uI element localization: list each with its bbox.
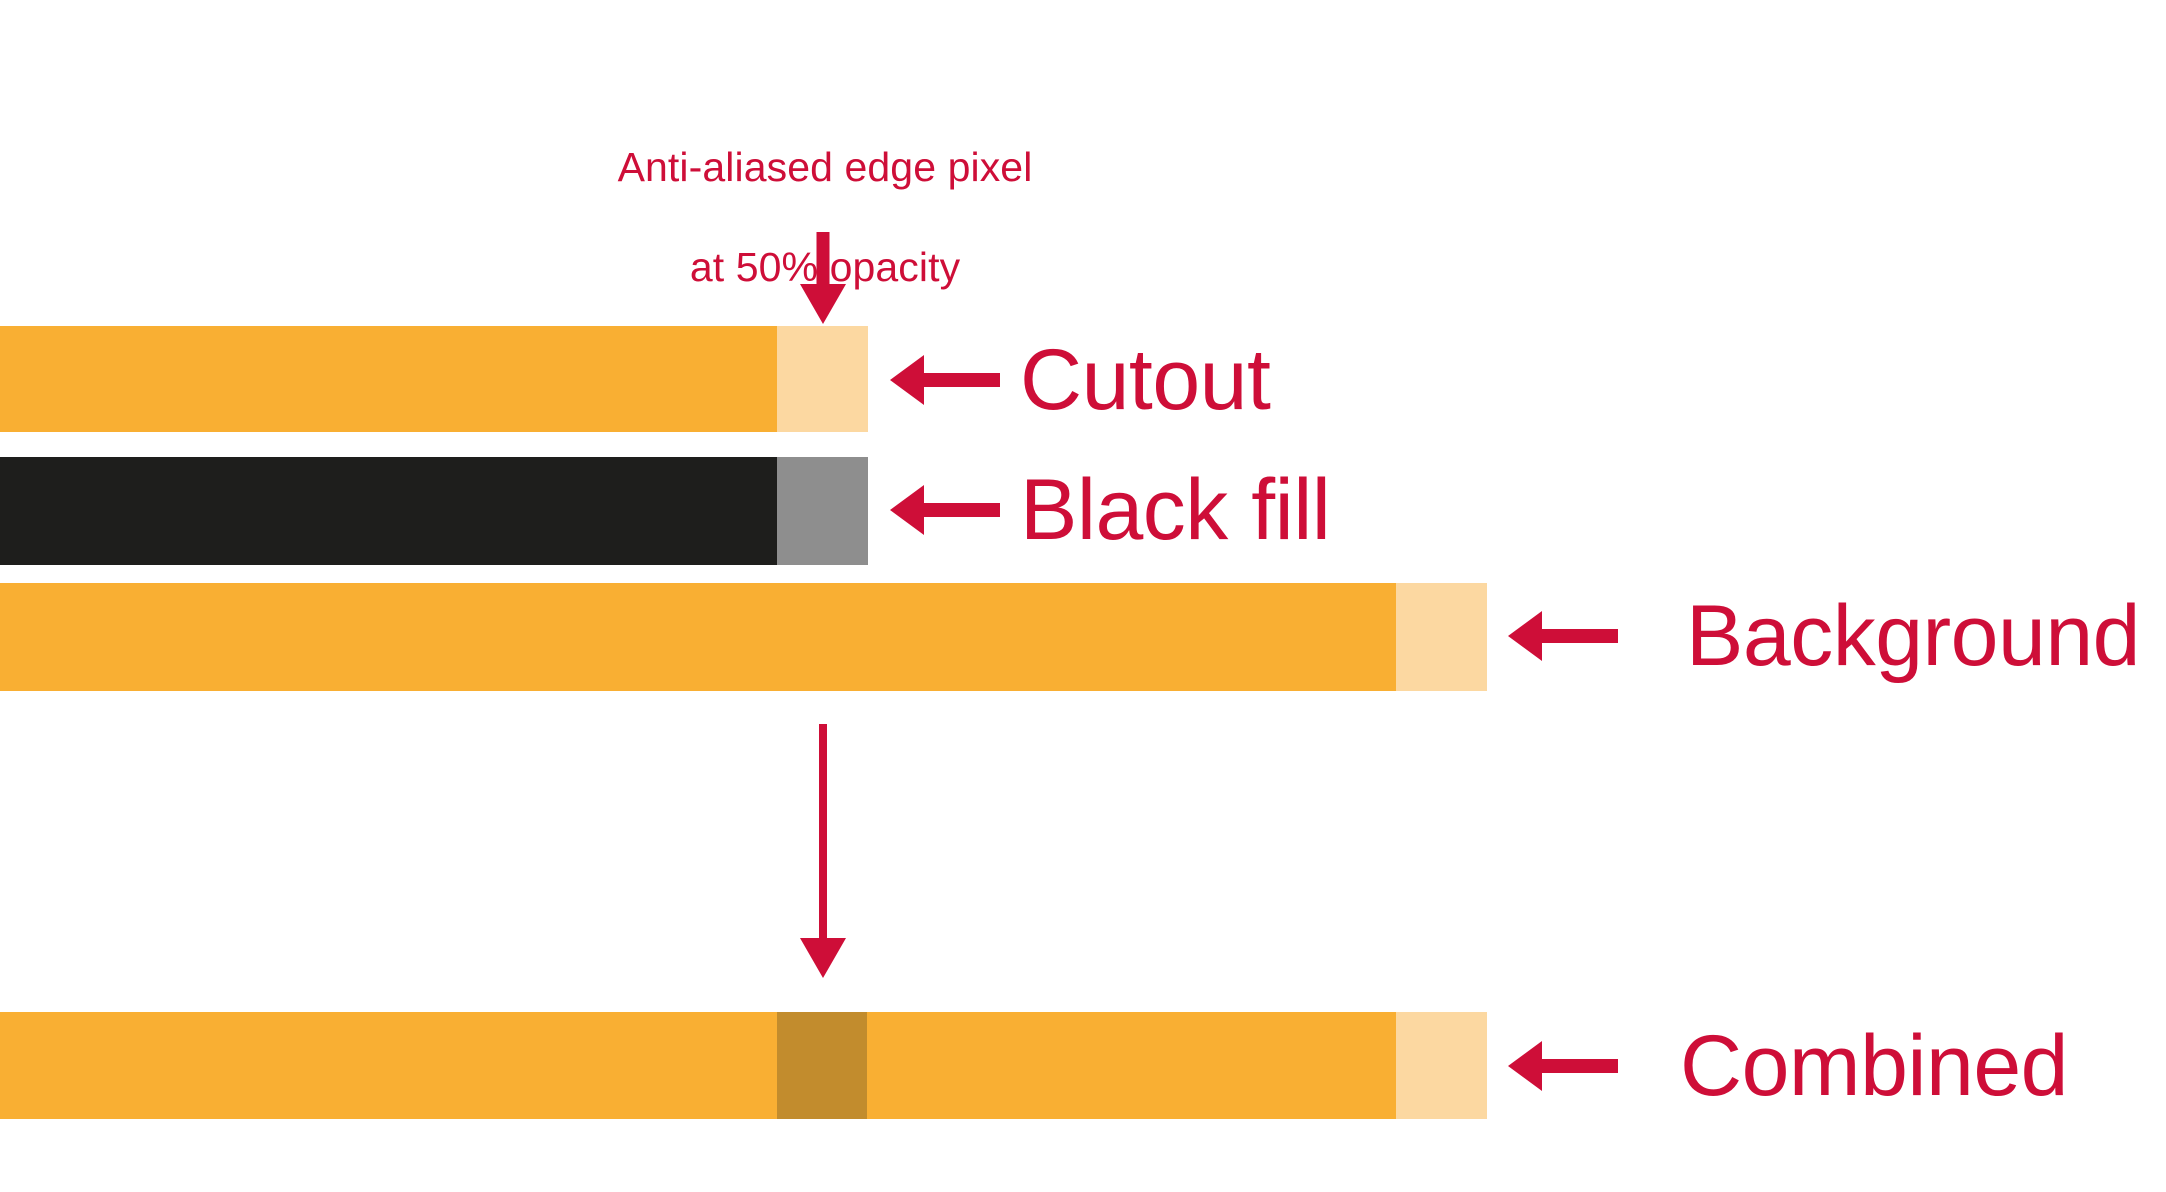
bar-cutout-segment-solid (0, 326, 777, 432)
bar-cutout (0, 326, 868, 432)
bar-combined-segment-solid-left (0, 1012, 777, 1119)
arrow-left-icon (890, 350, 1000, 410)
arrow-down-icon (800, 724, 846, 978)
arrow-left-icon (1508, 1036, 1618, 1096)
bar-combined-segment-edge-pixel (1396, 1012, 1487, 1119)
bar-combined (0, 1012, 1487, 1119)
label-background: Background (1508, 588, 2140, 684)
arrow-down-icon (800, 232, 846, 324)
bar-background-segment-edge-pixel (1396, 583, 1487, 691)
label-black-fill-text: Black fill (1020, 467, 1330, 553)
bar-background (0, 583, 1487, 691)
bar-combined-segment-blended-edge-pixel (777, 1012, 867, 1119)
bar-background-segment-solid (0, 583, 1396, 691)
label-black-fill: Black fill (890, 462, 1330, 558)
bar-black-fill (0, 457, 868, 565)
bar-cutout-segment-edge-pixel (777, 326, 868, 432)
diagram-canvas: Anti-aliased edge pixel at 50% opacity C… (0, 0, 2166, 1192)
bar-combined-segment-solid-right (867, 1012, 1396, 1119)
label-cutout: Cutout (890, 332, 1270, 428)
caption-line-1: Anti-aliased edge pixel (618, 144, 1033, 190)
label-cutout-text: Cutout (1020, 337, 1270, 423)
arrow-left-icon (1508, 606, 1618, 666)
label-combined-text: Combined (1680, 1023, 2068, 1109)
arrow-left-icon (890, 480, 1000, 540)
label-background-text: Background (1686, 593, 2140, 679)
bar-black-fill-segment-edge-pixel (777, 457, 868, 565)
label-combined: Combined (1508, 1018, 2068, 1114)
bar-black-fill-segment-solid (0, 457, 777, 565)
